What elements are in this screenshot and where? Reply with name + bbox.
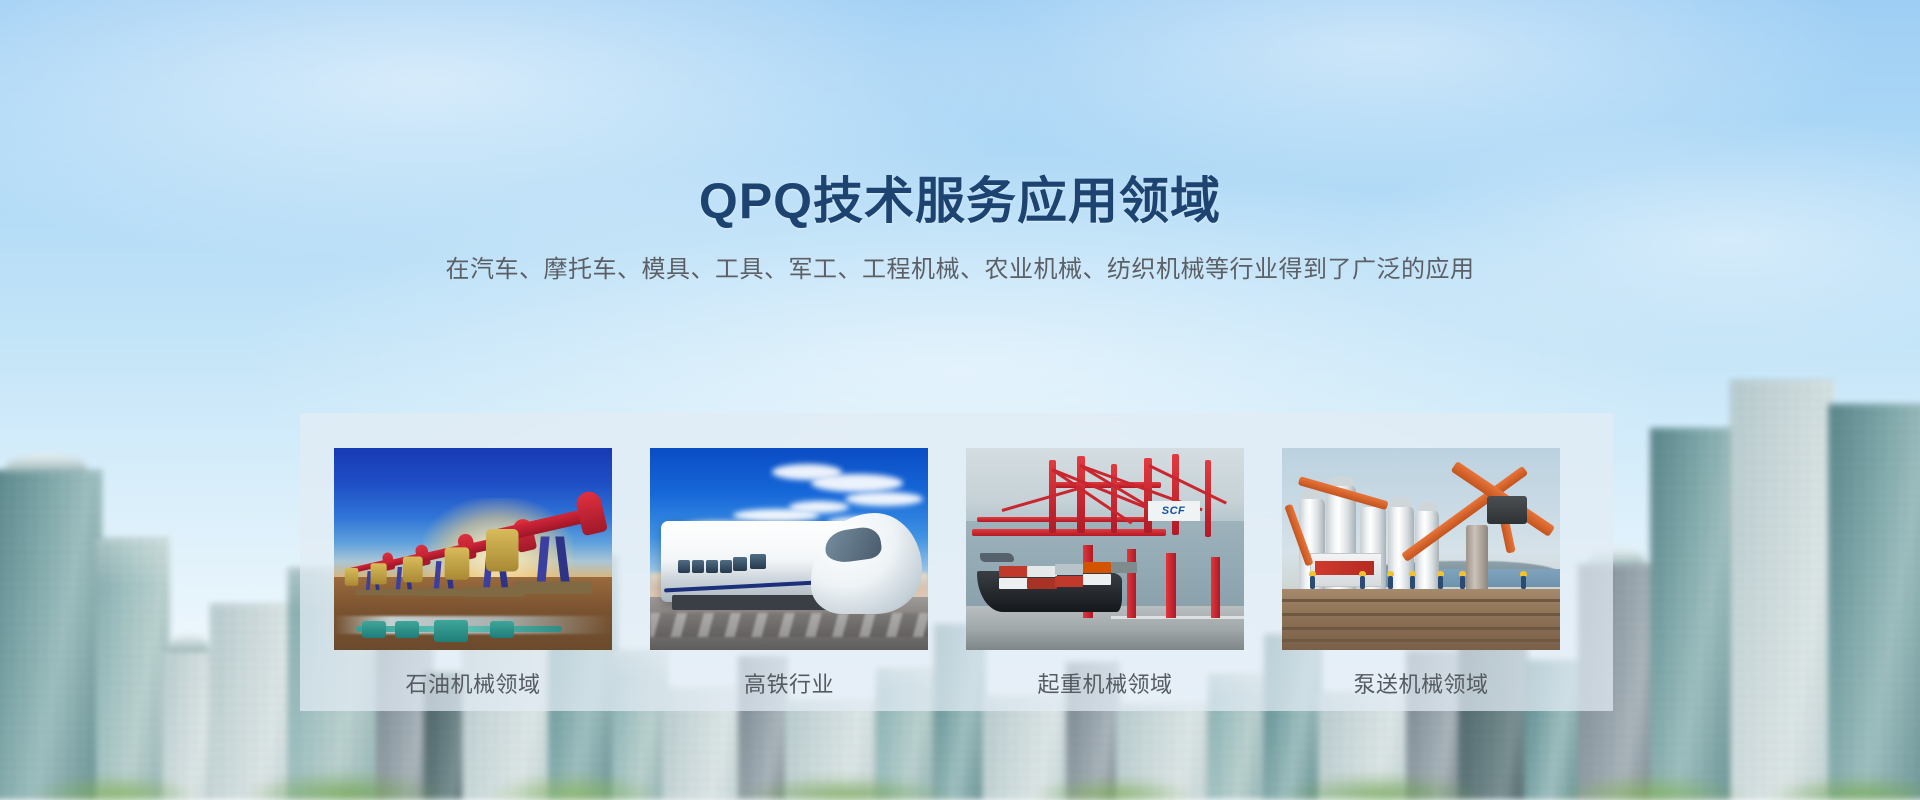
page-subtitle: 在汽车、摩托车、模具、工具、军工、工程机械、农业机械、纺织机械等行业得到了广泛的… xyxy=(0,253,1920,287)
card-high-speed-rail[interactable]: 高铁行业 xyxy=(650,448,928,696)
card-label: 高铁行业 xyxy=(744,674,834,696)
card-lifting-machinery[interactable]: SCF 起重机械领域 xyxy=(966,448,1244,696)
card-label: 泵送机械领域 xyxy=(1353,674,1488,696)
application-cards-list: 石油机械领域 xyxy=(334,448,1579,696)
scf-logo: SCF xyxy=(1148,501,1200,521)
hero-headings: QPQ技术服务应用领域 在汽车、摩托车、模具、工具、军工、工程机械、农业机械、纺… xyxy=(0,172,1920,287)
card-pumping-machinery[interactable]: 泵送机械领域 xyxy=(1282,448,1560,696)
high-speed-train-photo[interactable] xyxy=(650,448,928,650)
page-title: QPQ技术服务应用领域 xyxy=(0,172,1920,231)
card-label: 起重机械领域 xyxy=(1037,674,1172,696)
card-oil-machinery[interactable]: 石油机械领域 xyxy=(334,448,612,696)
concrete-pump-photo[interactable] xyxy=(1282,448,1560,650)
application-fields-panel: 石油机械领域 xyxy=(300,413,1613,711)
card-label: 石油机械领域 xyxy=(405,674,540,696)
foliage-band xyxy=(0,754,1920,800)
port-gantry-crane-photo[interactable]: SCF xyxy=(966,448,1244,650)
hero-banner: QPQ技术服务应用领域 在汽车、摩托车、模具、工具、军工、工程机械、农业机械、纺… xyxy=(0,0,1920,800)
oil-pumpjack-photo[interactable] xyxy=(334,448,612,650)
